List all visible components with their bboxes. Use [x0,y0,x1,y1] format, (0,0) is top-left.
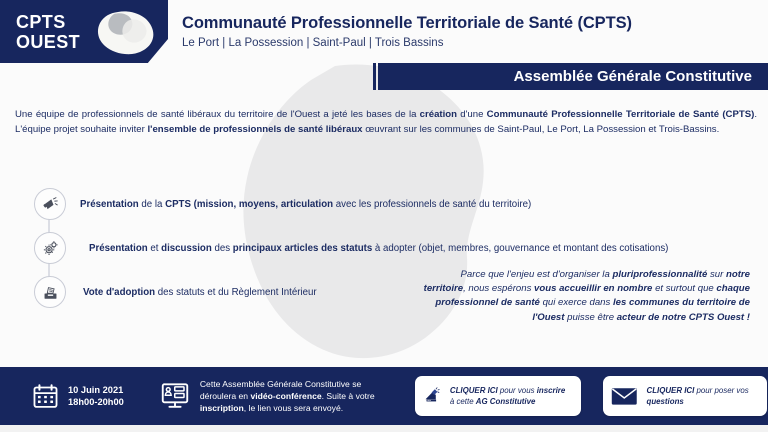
footer-bar: 10 Juin 2021 18h00-20h00 Cette Assemblée… [0,367,768,425]
cta1-normal-2: à cette [450,397,476,406]
cta1-bold-2: inscrire [537,386,566,395]
event-time: 18h00-20h00 [68,396,124,409]
header-subtitle: Le Port | La Possession | Saint-Paul | T… [182,37,632,49]
calendar-icon [32,383,59,410]
video-info-group: Cette Assemblée Générale Constitutive se… [160,378,378,414]
quote-1c: sur [707,269,726,280]
banner-accent-bar [373,63,376,90]
agenda-1-bold-2: CPTS (mission, moyens, articulation [165,199,333,210]
register-hand-icon [423,381,441,411]
intro-text-b: création [420,109,457,120]
quote-block: Parce que l'enjeu est d'organiser la plu… [422,268,750,325]
questions-cta-button[interactable]: CLIQUER ICI pour poser vos questions [603,376,767,416]
reunion-island-map-icon [94,10,156,56]
agenda-item-presentation: Présentation de la CPTS (mission, moyens… [34,182,764,226]
questions-cta-text: CLIQUER ICI pour poser vos questions [647,385,757,407]
video-conference-icon [160,381,190,411]
banner-label: Assemblée Générale Constitutive [514,63,752,90]
agenda-1-bold-1: Présentation [80,199,139,210]
register-cta-button[interactable]: CLIQUER ICI pour vous inscrire à cette A… [415,376,581,416]
agenda-1-normal-2: avec les professionnels de santé du terr… [333,199,531,210]
agenda-item-discussion: Présentation et discussion des principau… [34,226,764,270]
quote-2b: , nous espérons [463,283,534,294]
quote-4c: acteur de notre CPTS Ouest ! [617,312,750,323]
quote-4b: puisse être [564,312,616,323]
intro-text-g: œuvrant sur les communes de Saint-Paul, … [363,124,720,135]
cta2-normal-1: pour poser vos [694,386,748,395]
cta2-bold-2: questions [647,397,684,406]
video-text-e: , le lien vous sera envoyé. [244,403,343,413]
agenda-item-text: Vote d'adoption des statuts et du Règlem… [83,286,317,299]
agenda-2-normal-2: des [212,243,233,254]
agenda-3-bold-1: Vote d'adoption [83,287,155,298]
cta1-bold-3: AG Constitutive [476,397,536,406]
agenda-item-text: Présentation et discussion des principau… [89,242,668,255]
agenda-2-normal-1: et [148,243,161,254]
video-text-d: inscription [200,403,244,413]
event-date-text: 10 Juin 2021 18h00-20h00 [68,384,124,409]
quote-2c: vous accueillir en nombre [534,283,652,294]
intro-text-f: l'ensemble de professionnels de santé li… [148,124,363,135]
banner: Assemblée Générale Constitutive [378,63,768,90]
cta1-bold-1: CLIQUER ICI [450,386,498,395]
logo-wordmark: CPTS OUEST [16,12,94,52]
register-cta-text: CLIQUER ICI pour vous inscrire à cette A… [450,385,571,407]
agenda-2-bold-1: Présentation [89,243,148,254]
header-title-group: Communauté Professionnelle Territoriale … [182,14,632,49]
quote-3b: qui exerce dans [540,297,613,308]
agenda-2-bold-3: principaux articles des statuts [233,243,372,254]
ballot-box-icon [34,276,66,308]
logo-line-2: OUEST [16,32,94,52]
megaphone-icon [34,188,66,220]
agenda-1-normal-1: de la [139,199,165,210]
intro-text-d: Communauté Professionnelle Territoriale … [487,109,755,120]
cta2-bold-1: CLIQUER ICI [647,386,695,395]
gears-icon [34,232,66,264]
quote-1a: Parce que l'enjeu est d'organiser la [461,269,613,280]
agenda-3-normal-1: des statuts et du Règlement Intérieur [155,287,317,298]
intro-text-c: d'une [457,109,487,120]
intro-paragraph: Une équipe de professionnels de santé li… [15,108,757,137]
footer-strip [0,425,768,432]
page-title: Communauté Professionnelle Territoriale … [182,14,632,33]
logo-line-1: CPTS [16,12,94,32]
agenda-2-normal-3: à adopter (objet, membres, gouvernance e… [372,243,668,254]
quote-1b: pluriprofessionnalité [612,269,707,280]
video-text-c: . Suite à votre [322,391,375,401]
video-text-b: vidéo-conférence [250,391,321,401]
quote-2d: et surtout que [652,283,716,294]
cta1-normal-1: pour vous [498,386,537,395]
video-info-text: Cette Assemblée Générale Constitutive se… [200,378,378,414]
event-date-group: 10 Juin 2021 18h00-20h00 [32,383,124,410]
envelope-icon [611,383,638,409]
agenda-item-text: Présentation de la CPTS (mission, moyens… [80,198,531,211]
agenda-2-bold-2: discussion [161,243,212,254]
poster-canvas: CPTS OUEST Communauté Professionnelle Te… [0,0,768,432]
intro-text-a: Une équipe de professionnels de santé li… [15,109,420,120]
event-date: 10 Juin 2021 [68,384,124,397]
